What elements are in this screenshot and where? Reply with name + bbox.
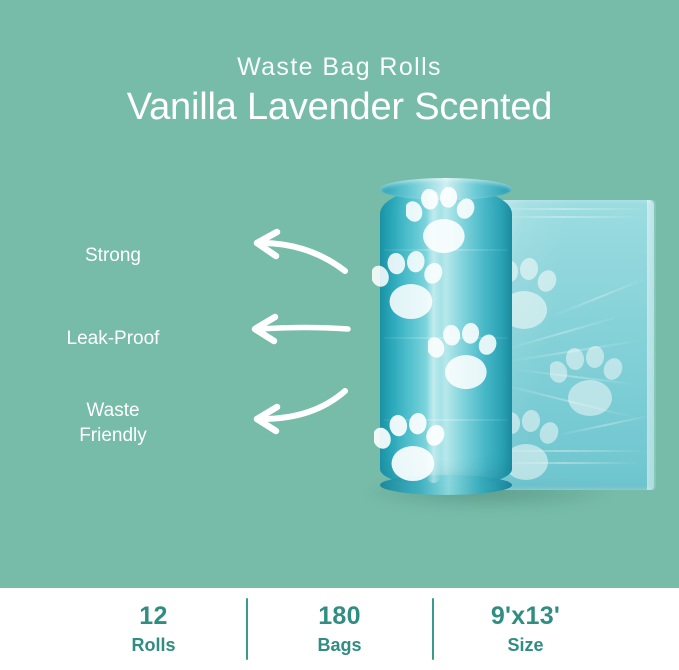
feature-label-waste-friendly: Waste Friendly (18, 398, 208, 448)
curved-arrow-down-left-icon (244, 230, 350, 276)
product-stats-bar: 12 Rolls 180 Bags 9'x13' Size (0, 588, 679, 670)
sheet-right-edge (647, 200, 656, 490)
stat-bags-value: 180 (270, 601, 410, 631)
bag-roll-cylinder (380, 187, 512, 487)
stat-divider (432, 598, 434, 660)
stat-rolls-label: Rolls (84, 633, 224, 657)
stat-bags: 180 Bags (270, 601, 410, 657)
feature-label-leak-proof: Leak-Proof (18, 326, 208, 351)
product-infographic: Waste Bag Rolls Vanilla Lavender Scented… (0, 0, 679, 670)
unrolled-bag-sheet (488, 200, 654, 490)
feature-label-waste-friendly-line2: Friendly (18, 423, 208, 448)
stat-rolls-value: 12 (84, 601, 224, 631)
stat-size-value: 9'x13' (456, 601, 596, 631)
product-image (360, 175, 660, 520)
stat-divider (246, 598, 248, 660)
stat-size: 9'x13' Size (456, 601, 596, 657)
paw-print-icon (406, 183, 476, 257)
paw-print-icon (374, 409, 446, 485)
straight-arrow-left-icon (240, 312, 352, 348)
feature-label-waste-friendly-line1: Waste (18, 398, 208, 423)
paw-print-icon (550, 342, 624, 420)
feature-label-strong: Strong (18, 243, 208, 268)
paw-print-icon (372, 247, 444, 323)
stat-size-label: Size (456, 633, 596, 657)
curved-arrow-up-left-icon (244, 386, 350, 432)
stat-rolls: 12 Rolls (84, 601, 224, 657)
paw-print-icon (428, 319, 498, 393)
stat-bags-label: Bags (270, 633, 410, 657)
